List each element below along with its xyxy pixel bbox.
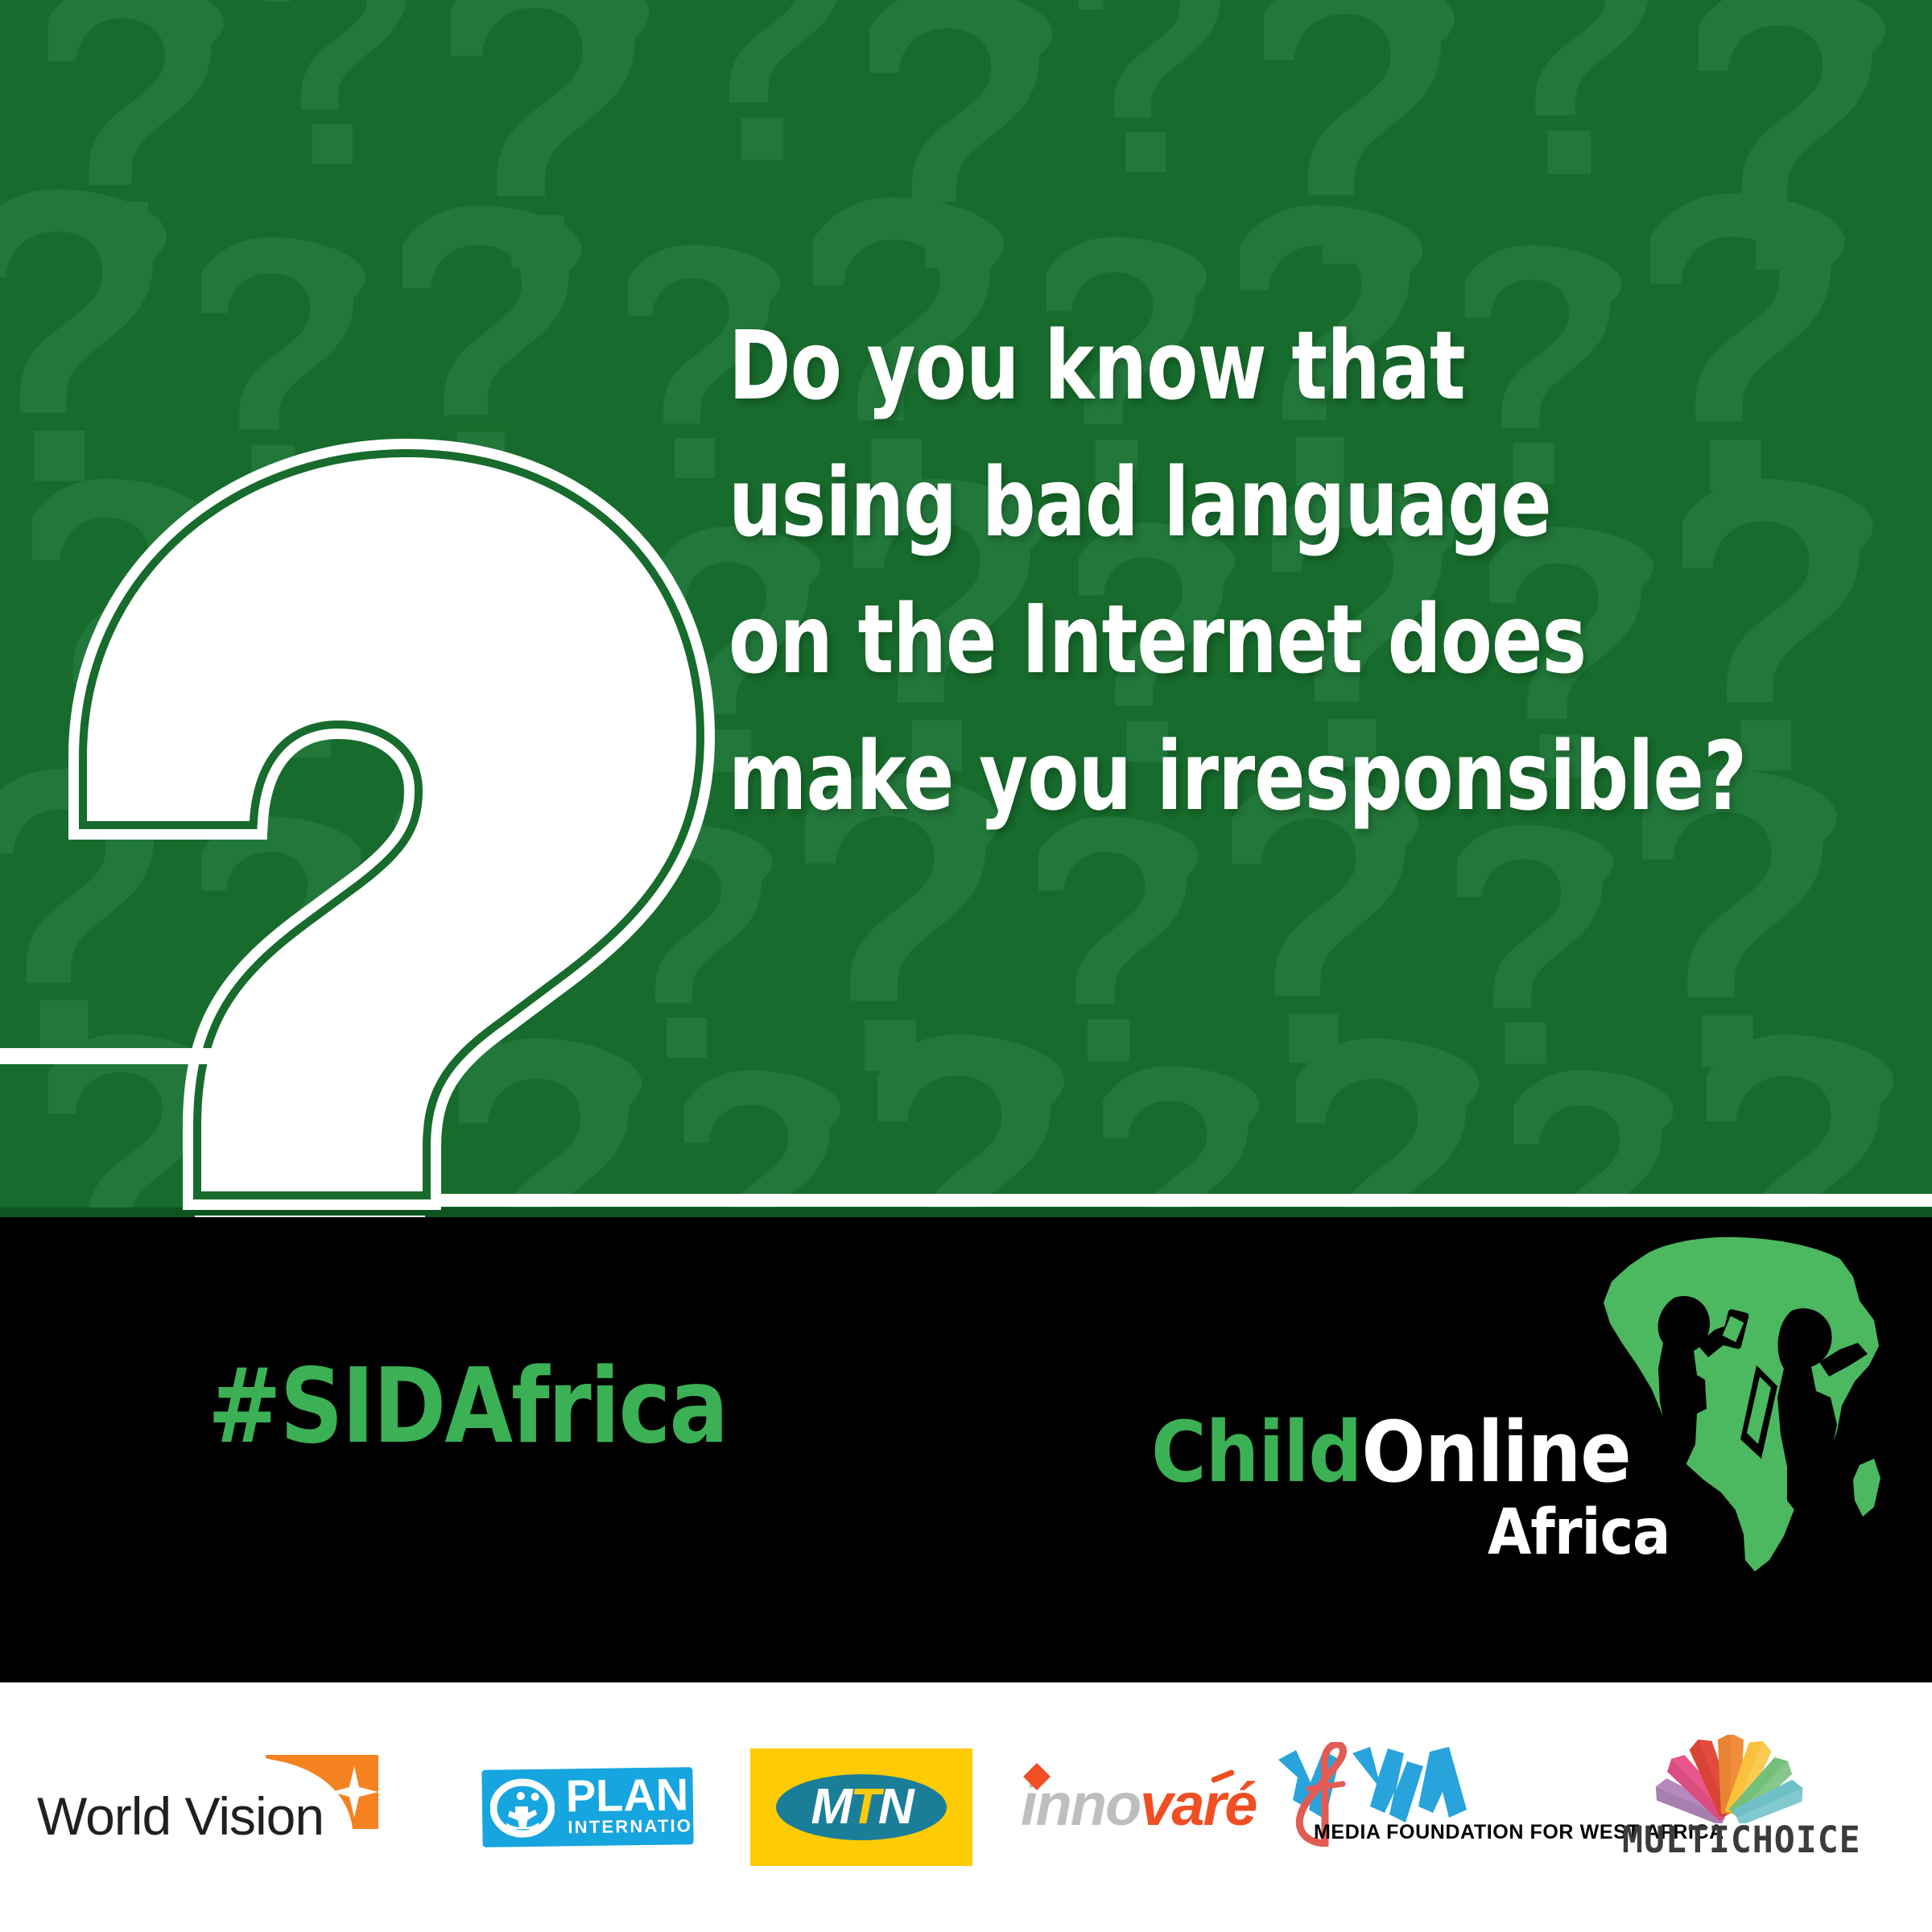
mtn-label: MTN — [811, 1782, 911, 1832]
logo-word-online: Online — [1361, 1403, 1630, 1501]
question-mark-icon — [0, 419, 692, 1217]
logo-wordmark: ChildOnline — [1151, 1410, 1631, 1494]
headline-line-1: Do you know that — [729, 298, 1678, 435]
sponsor-mfwa[interactable]: MEDIA FOUNDATION FOR WEST AFRICA — [1260, 1682, 1598, 1932]
sponsor-mtn[interactable]: MTN — [741, 1682, 982, 1932]
branding-band: #SIDAfrica — [0, 1217, 1932, 1682]
child-online-africa-logo: ChildOnline Africa — [1127, 1224, 1900, 1676]
headline-line-2: using bad language — [729, 435, 1678, 572]
logo-word-africa: Africa — [1488, 1501, 1670, 1564]
multichoice-label: MULTICHOICE — [1622, 1822, 1861, 1858]
world-vision-swoosh-star-icon — [266, 1755, 378, 1835]
sponsor-world-vision[interactable]: World Vision — [32, 1682, 378, 1932]
plan-child-circle-icon — [489, 1776, 555, 1841]
hero-section: Do you know that using bad language on t… — [0, 0, 1932, 1217]
plan-sublabel: INTERNATIONAL — [568, 1816, 734, 1836]
left-white-rule — [0, 1048, 235, 1064]
sponsor-strip: World Vision — [0, 1682, 1932, 1932]
sponsor-innovare[interactable]: innovaré — [1010, 1682, 1252, 1932]
poster-root: Do you know that using bad language on t… — [0, 0, 1932, 1932]
headline-line-4: make you irresponsible? — [729, 708, 1678, 845]
hashtag-label: #SIDAfrica — [208, 1356, 727, 1459]
multichoice-rainbow-fan-icon — [1630, 1735, 1831, 1823]
plan-label: PLAN — [565, 1772, 688, 1818]
mtn-ellipse-icon: MTN — [776, 1774, 947, 1840]
sponsor-plan-international[interactable]: PLAN INTERNATIONAL — [475, 1682, 700, 1932]
headline-line-3: on the Internet does — [729, 572, 1678, 708]
innovare-label: innovaré — [1021, 1775, 1256, 1835]
logo-word-child: Child — [1151, 1403, 1361, 1501]
sponsor-multichoice[interactable]: MULTICHOICE — [1618, 1682, 1892, 1932]
page-title: Do you know that using bad language on t… — [729, 298, 1807, 845]
